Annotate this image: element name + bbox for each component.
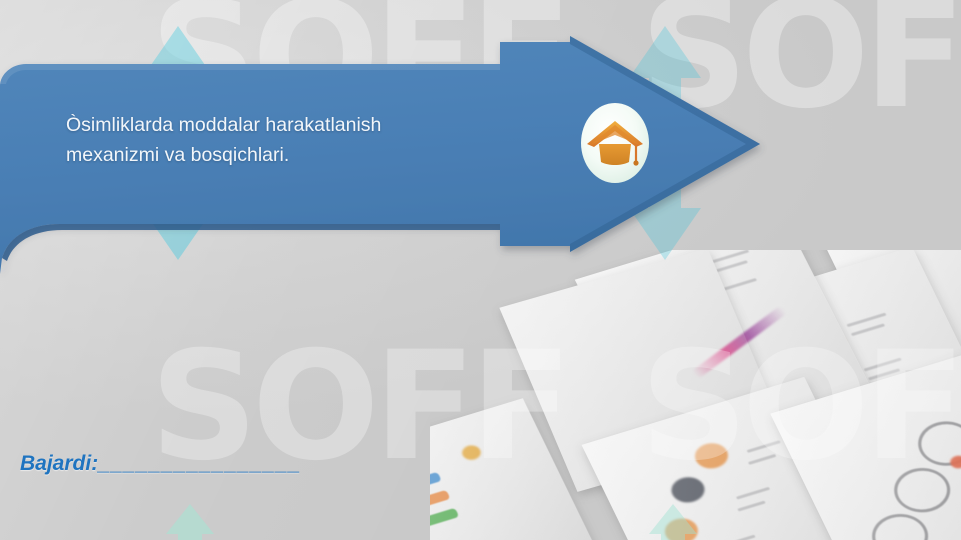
banner-title-line-2: mexanizmi va bosqichlari. <box>66 140 506 170</box>
author-blank: ________________ <box>98 452 301 475</box>
banner-title-line-1: Òsimliklarda moddalar harakatlanish <box>66 110 506 140</box>
presentation-slide: SOFF SOFF SOFF SOFF <box>0 0 961 540</box>
photo-collage <box>430 250 961 540</box>
banner-title: Òsimliklarda moddalar harakatlanish mexa… <box>66 110 506 170</box>
author-label: Bajardi: <box>20 452 98 475</box>
author-line: Bajardi:________________ <box>20 452 301 476</box>
graduation-cap-badge <box>579 101 651 186</box>
